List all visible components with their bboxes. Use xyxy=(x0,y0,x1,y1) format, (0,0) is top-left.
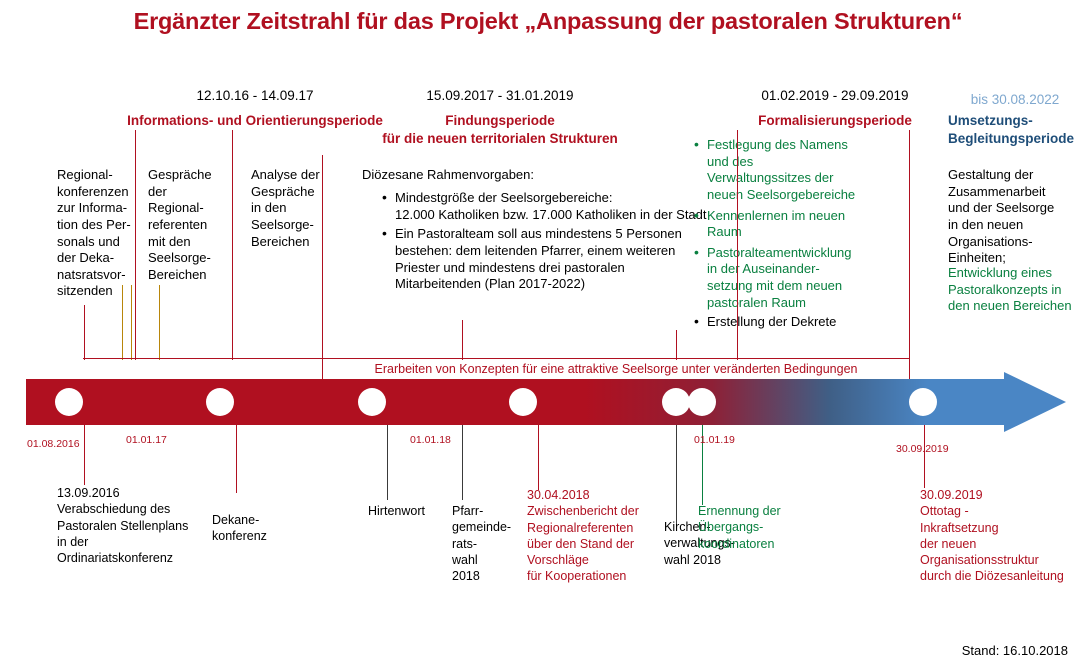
axis-date-2: 01.01.17 xyxy=(126,434,167,446)
connector-line-regionalkonferenzen xyxy=(84,305,85,360)
connector-line-kirchenverwaltungswahl xyxy=(676,330,677,360)
axis-date-1: 01.08.2016 xyxy=(27,438,80,450)
column-gespraeche-regionalreferenten: Gespräche der Regional- referenten mit d… xyxy=(148,167,243,283)
umsetzungsperiode-text-green: Entwicklung eines Pastoralkonzepts in de… xyxy=(948,265,1086,315)
findungsperiode-intro: Diözesane Rahmenvorgaben: xyxy=(362,167,722,184)
connector-line-findungsperiode-start xyxy=(322,155,323,360)
period-2-dates: 15.09.2017 - 31.01.2019 xyxy=(355,88,645,103)
period-3-title: Formalisierungsperiode xyxy=(710,113,960,130)
timeline-node-4[interactable] xyxy=(509,388,537,416)
connector-line-informationsperiode xyxy=(135,130,136,360)
timeline-node-3[interactable] xyxy=(358,388,386,416)
event-ernennung-uebergangskoordinatoren: Ernennung der Übergangs- koordinatoren xyxy=(698,503,818,552)
period-4-dates: bis 30.08.2022 xyxy=(950,92,1080,107)
connector-line-formalisierung-start xyxy=(737,130,738,360)
connector-line-gespraeche-3 xyxy=(159,285,160,360)
timeline-node-2[interactable] xyxy=(206,388,234,416)
timeline-node-1[interactable] xyxy=(55,388,83,416)
formalisierung-bullet-1: Festlegung des Namens und des Verwaltung… xyxy=(707,137,915,204)
connector-line-event-zwischenbericht xyxy=(538,425,539,490)
formalisierung-bullet-4: Erstellung der Dekrete xyxy=(707,314,915,331)
findungsperiode-bullets: Mindestgröße der Seelsorgebereiche: 12.0… xyxy=(378,190,733,294)
findungsperiode-bullet-2: Ein Pastoralteam soll aus mindestens 5 P… xyxy=(395,226,733,293)
event-hirtenwort: Hirtenwort xyxy=(368,503,453,519)
formalisierung-bullet-2: Kennenlernen im neuen Raum xyxy=(707,208,915,241)
connector-line-event-dekanekonferenz xyxy=(236,425,237,493)
formalisierungsperiode-bullets: Festlegung des Namens und des Verwaltung… xyxy=(690,137,915,312)
axis-date-4: 01.01.19 xyxy=(694,434,735,446)
ribbon-label-box: Erarbeiten von Konzepten für eine attrak… xyxy=(322,358,910,381)
event-pfarrgemeinderatswahl: Pfarr- gemeinde- rats- wahl 2018 xyxy=(452,503,522,584)
umsetzungsperiode-text-black: Gestaltung der Zusammenarbeit und der Se… xyxy=(948,167,1083,267)
bracket-line xyxy=(83,358,323,359)
period-4-title-line2: Begleitungsperiode xyxy=(948,131,1083,148)
connector-line-event-ottotag xyxy=(924,425,925,488)
timeline-node-5[interactable] xyxy=(662,388,690,416)
axis-date-5: 30.09.2019 xyxy=(896,443,949,455)
page-title: Ergänzter Zeitstrahl für das Projekt „An… xyxy=(18,8,1078,35)
event-ottotag-inkraftsetzung: 30.09.2019 Ottotag - Inkraftsetzung der … xyxy=(920,487,1090,585)
connector-line-analyse xyxy=(232,130,233,360)
period-3-dates: 01.02.2019 - 29.09.2019 xyxy=(710,88,960,103)
timeline-node-6[interactable] xyxy=(688,388,716,416)
timeline-node-7[interactable] xyxy=(909,388,937,416)
findungsperiode-bullet-1: Mindestgröße der Seelsorgebereiche: 12.0… xyxy=(395,190,733,223)
timeline-arrowhead-icon xyxy=(1004,372,1066,432)
axis-date-3: 01.01.18 xyxy=(410,434,451,446)
connector-line-event-hirtenwort xyxy=(387,425,388,500)
connector-line-pfarrgemeinderatswahl xyxy=(462,320,463,360)
connector-line-gespraeche-2 xyxy=(131,285,132,360)
formalisierungsperiode-last-bullet: Erstellung der Dekrete xyxy=(690,314,915,332)
formalisierung-bullet-3: Pastoralteamentwicklung in der Auseinand… xyxy=(707,245,915,312)
event-verabschiedung-stellenplan: 13.09.2016 Verabschiedung des Pastoralen… xyxy=(57,485,237,566)
timeline-bar xyxy=(26,379,1066,425)
period-2-title-line1: Findungsperiode xyxy=(355,113,645,130)
stand-date: Stand: 16.10.2018 xyxy=(962,643,1068,658)
connector-line-event-kirchenverwaltungswahl xyxy=(676,425,677,525)
connector-line-gespraeche-1 xyxy=(122,285,123,360)
connector-line-event-pfarrgemeinderatswahl xyxy=(462,425,463,500)
event-zwischenbericht: 30.04.2018 Zwischenbericht der Regionalr… xyxy=(527,487,667,585)
event-dekanekonferenz: Dekane- konferenz xyxy=(212,512,302,545)
period-4-title-line1: Umsetzungs- xyxy=(948,113,1083,130)
period-2-title-line2: für die neuen territorialen Strukturen xyxy=(345,131,655,148)
connector-line-event-stellenplan xyxy=(84,425,85,485)
connector-line-umsetzung-start xyxy=(909,130,910,360)
column-analyse-gespraeche: Analyse der Gespräche in den Seelsorge- … xyxy=(251,167,346,250)
ribbon-label: Erarbeiten von Konzepten für eine attrak… xyxy=(323,359,909,376)
